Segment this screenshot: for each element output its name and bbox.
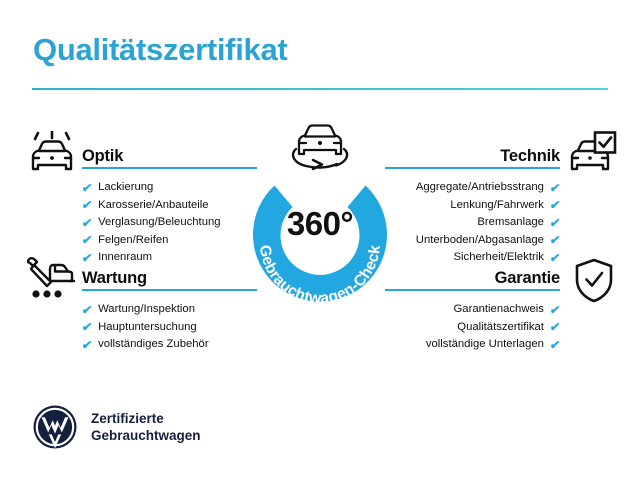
checklist-item: Unterboden/Abgasanlage✔ bbox=[385, 232, 560, 250]
certificate-page: Qualitätszertifikat bbox=[0, 0, 640, 480]
checklist-item: Qualitätszertifikat✔ bbox=[385, 319, 560, 337]
section-technik-list: Aggregate/Antriebsstrang✔Lenkung/Fahrwer… bbox=[385, 179, 560, 267]
section-optik-list: ✔Lackierung✔Karosserie/Anbauteile✔Vergla… bbox=[82, 179, 257, 267]
checklist-item-label: Garantienachweis bbox=[454, 301, 544, 319]
checklist-item: Bremsanlage✔ bbox=[385, 214, 560, 232]
checklist-item-label: Karosserie/Anbauteile bbox=[98, 197, 209, 215]
check-icon: ✔ bbox=[81, 199, 93, 211]
car-front-shine-icon bbox=[27, 131, 77, 178]
checklist-item-label: vollständiges Zubehör bbox=[98, 336, 209, 354]
checklist-item: ✔Karosserie/Anbauteile bbox=[82, 197, 257, 215]
checklist-item: ✔Felgen/Reifen bbox=[82, 232, 257, 250]
check-icon: ✔ bbox=[549, 217, 561, 229]
section-technik: Technik Aggregate/Antriebsstrang✔Lenkung… bbox=[385, 140, 560, 267]
section-garantie-title: Garantie bbox=[495, 269, 560, 288]
check-icon: ✔ bbox=[549, 339, 561, 351]
checklist-item: ✔Verglasung/Beleuchtung bbox=[82, 214, 257, 232]
footer-line-2: Gebrauchtwagen bbox=[91, 427, 201, 444]
checklist-item-label: Lackierung bbox=[98, 179, 153, 197]
check-icon: ✔ bbox=[549, 234, 561, 246]
checklist-item-label: vollständige Unterlagen bbox=[426, 336, 544, 354]
checklist-item: ✔Lackierung bbox=[82, 179, 257, 197]
section-optik-header: Optik bbox=[82, 140, 257, 170]
checklist-item: ✔Hauptuntersuchung bbox=[82, 319, 257, 337]
check-icon: ✔ bbox=[549, 199, 561, 211]
checklist-item-label: Hauptuntersuchung bbox=[98, 319, 197, 337]
check-icon: ✔ bbox=[81, 182, 93, 194]
checklist-item-label: Verglasung/Beleuchtung bbox=[98, 214, 220, 232]
checklist-item-label: Aggregate/Antriebsstrang bbox=[416, 179, 544, 197]
footer-brand-text: Zertifizierte Gebrauchtwagen bbox=[91, 410, 201, 444]
page-title: Qualitätszertifikat bbox=[33, 32, 287, 68]
check-icon: ✔ bbox=[81, 217, 93, 229]
checklist-item-label: Wartung/Inspektion bbox=[98, 301, 195, 319]
check-icon: ✔ bbox=[81, 321, 93, 333]
checklist-item-label: Qualitätszertifikat bbox=[457, 319, 544, 337]
section-optik-divider bbox=[82, 167, 257, 169]
section-wartung: Wartung ✔Wartung/Inspektion✔Hauptuntersu… bbox=[82, 262, 257, 354]
section-garantie: Garantie Garantienachweis✔Qualitätszerti… bbox=[385, 262, 560, 354]
shield-check-icon bbox=[573, 258, 615, 309]
section-technik-title: Technik bbox=[500, 147, 560, 166]
footer-line-1: Zertifizierte bbox=[91, 410, 201, 427]
section-optik-title: Optik bbox=[82, 147, 123, 166]
section-technik-header: Technik bbox=[385, 140, 560, 170]
checklist-item: ✔vollständiges Zubehör bbox=[82, 336, 257, 354]
checklist-item: Aggregate/Antriebsstrang✔ bbox=[385, 179, 560, 197]
check-icon: ✔ bbox=[549, 304, 561, 316]
section-garantie-list: Garantienachweis✔Qualitätszertifikat✔vol… bbox=[385, 301, 560, 354]
car-front-checkbox-icon bbox=[568, 131, 618, 178]
check-icon: ✔ bbox=[81, 234, 93, 246]
section-wartung-divider bbox=[82, 289, 257, 291]
checklist-item-label: Bremsanlage bbox=[477, 214, 544, 232]
section-garantie-divider bbox=[385, 289, 560, 291]
section-wartung-title: Wartung bbox=[82, 269, 147, 288]
checklist-item: Lenkung/Fahrwerk✔ bbox=[385, 197, 560, 215]
check-icon: ✔ bbox=[549, 321, 561, 333]
check-icon: ✔ bbox=[81, 339, 93, 351]
title-divider bbox=[32, 88, 608, 90]
checklist-item-label: Felgen/Reifen bbox=[98, 232, 168, 250]
car-rotate-360-icon bbox=[282, 116, 358, 178]
wrench-car-service-icon bbox=[24, 256, 78, 307]
section-wartung-header: Wartung bbox=[82, 262, 257, 292]
checklist-item: Garantienachweis✔ bbox=[385, 301, 560, 319]
footer-brand: Zertifizierte Gebrauchtwagen bbox=[32, 404, 201, 450]
check-icon: ✔ bbox=[81, 304, 93, 316]
check-icon: ✔ bbox=[549, 182, 561, 194]
section-technik-divider bbox=[385, 167, 560, 169]
checklist-item-label: Lenkung/Fahrwerk bbox=[450, 197, 544, 215]
checklist-item: vollständige Unterlagen✔ bbox=[385, 336, 560, 354]
section-garantie-header: Garantie bbox=[385, 262, 560, 292]
checklist-item-label: Unterboden/Abgasanlage bbox=[416, 232, 544, 250]
vw-logo bbox=[32, 404, 78, 450]
section-optik: Optik ✔Lackierung✔Karosserie/Anbauteile✔… bbox=[82, 140, 257, 267]
section-wartung-list: ✔Wartung/Inspektion✔Hauptuntersuchung✔vo… bbox=[82, 301, 257, 354]
checklist-item: ✔Wartung/Inspektion bbox=[82, 301, 257, 319]
